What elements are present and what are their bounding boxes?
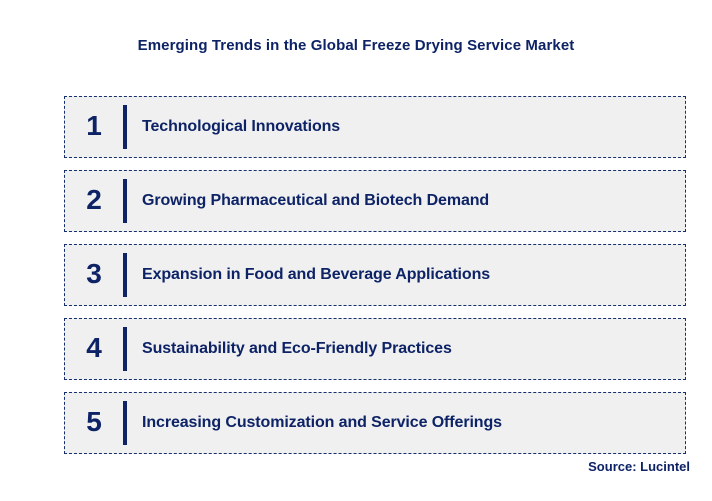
trend-number: 3: [65, 260, 123, 290]
trend-label: Increasing Customization and Service Off…: [127, 413, 685, 433]
source-attribution: Source: Lucintel: [588, 459, 690, 474]
trend-number: 2: [65, 186, 123, 216]
list-item: 5 Increasing Customization and Service O…: [64, 392, 686, 454]
page-title: Emerging Trends in the Global Freeze Dry…: [0, 36, 712, 56]
list-item: 1 Technological Innovations: [64, 96, 686, 158]
trend-number: 4: [65, 334, 123, 364]
list-item: 3 Expansion in Food and Beverage Applica…: [64, 244, 686, 306]
trend-label: Sustainability and Eco-Friendly Practice…: [127, 339, 685, 359]
infographic-container: Emerging Trends in the Global Freeze Dry…: [0, 0, 712, 501]
trend-number: 5: [65, 408, 123, 438]
trend-label: Expansion in Food and Beverage Applicati…: [127, 265, 685, 285]
trend-label: Growing Pharmaceutical and Biotech Deman…: [127, 191, 685, 211]
trend-list: 1 Technological Innovations 2 Growing Ph…: [64, 96, 686, 454]
trend-number: 1: [65, 112, 123, 142]
trend-label: Technological Innovations: [127, 117, 685, 137]
list-item: 2 Growing Pharmaceutical and Biotech Dem…: [64, 170, 686, 232]
list-item: 4 Sustainability and Eco-Friendly Practi…: [64, 318, 686, 380]
